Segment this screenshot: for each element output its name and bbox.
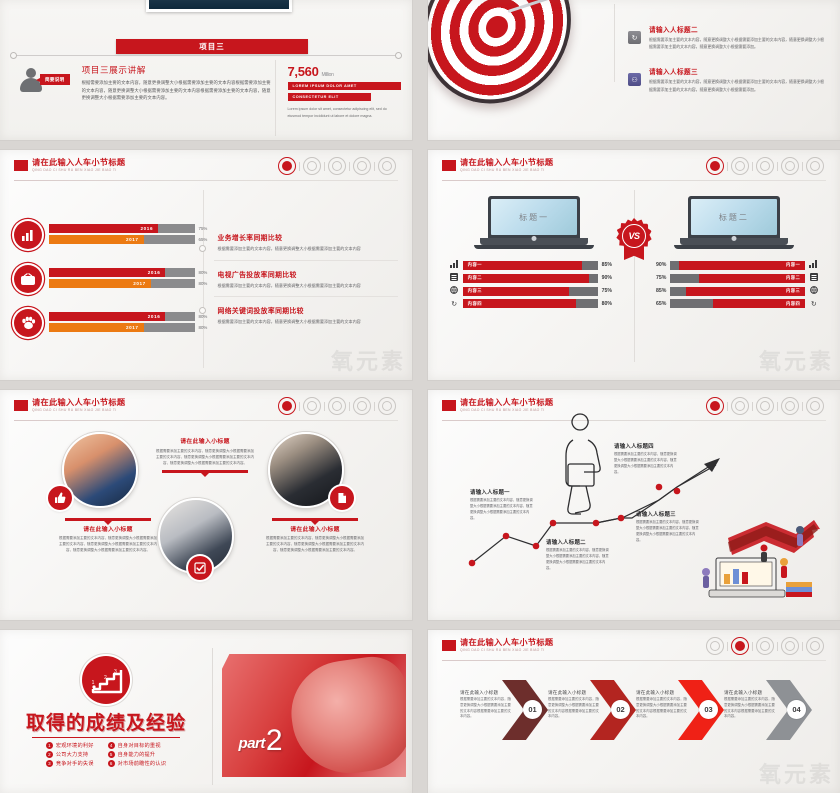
bar-chart-icon	[14, 221, 42, 249]
watermark: 氧元素	[759, 757, 834, 789]
photo-caption-2: 请在此输入小标题 根据需要添加主要的文本内容，随意更换调整大小根据需要添加主要的…	[58, 518, 158, 553]
list-item: 5自身能力的提升	[108, 751, 167, 758]
stairs-growth-icon: 1 2 3	[82, 656, 130, 704]
nav-icon-active[interactable]	[731, 637, 749, 655]
vs-bar-percent: 90%	[602, 275, 619, 281]
nav-icon-4[interactable]	[781, 157, 799, 175]
bar-2016: 2016 80%	[49, 312, 195, 321]
slide7-heading: 取得的成绩及经验	[26, 708, 186, 735]
vs-bar-row: ↻ 内容四 80%	[450, 299, 619, 308]
growth-label-body: 根据需要添加主要的文本内容，随意更换调整大小根据需要添加主要的文本内容，随意更换…	[636, 520, 700, 544]
photo-caption-3: 请在此输入小标题 根据需要添加主要的文本内容，随意更换调整大小根据需要添加主要的…	[265, 518, 365, 553]
metric-row: 2016 80% 2017 80%	[14, 265, 195, 293]
bar-2017: 2017 65%	[49, 235, 195, 244]
red-square-marker	[14, 400, 28, 411]
stat-tag-1: LOREM IPSUM DOLOR AMET	[288, 82, 401, 90]
bullet-text: 公司大力支持	[56, 751, 88, 758]
vs-bar-percent: 85%	[602, 262, 619, 268]
bar-year-label: 2017	[126, 325, 139, 330]
checklist-icon	[188, 556, 212, 580]
bullet-text: 自身能力的提升	[118, 751, 156, 758]
metric-description: 业务增长率同期比较 根据需要添加主要的文本内容，随意更换调整大小根据需要添加主要…	[218, 232, 399, 252]
vs-bar-label: 内容一	[468, 262, 482, 268]
slide-thumbnail-target-goals[interactable]: ↻ 请输入人标题二 根据需要添加主要的文本内容，随意更换调整大小根据需要添加主要…	[428, 0, 840, 140]
nav-icon-2[interactable]	[731, 157, 749, 175]
metric-title: 电视广告投放率同期比较	[218, 269, 399, 279]
nav-icon-4[interactable]	[781, 637, 799, 655]
growth-label-body: 根据需要添加主要的文本内容，随意更换调整大小根据需要添加主要的文本内容，随意更换…	[614, 452, 678, 476]
vs-bar-label: 内容一	[786, 262, 800, 268]
nav-icon-5[interactable]	[806, 637, 824, 655]
bullet-number: 2	[46, 751, 53, 758]
nav-icon-5[interactable]	[378, 157, 396, 175]
vs-bar-percent: 65%	[649, 301, 666, 307]
list-item: 4自身对目标的重视	[108, 742, 167, 749]
photo-caption-1: 请在此输入小标题 根据需要添加主要的文本内容，随意更换调整大小根据需要添加主要的…	[155, 436, 255, 473]
step-body: 根据需要添加主要的文本内容，随意更换调整大小根据需要添加主要的文本内容根据需要添…	[636, 697, 688, 720]
project-banner-label: 项目三	[199, 41, 225, 52]
caption-body: 根据需要添加主要的文本内容，随意更换调整大小根据需要添加主要的文本内容，随意更换…	[265, 535, 365, 553]
svg-text:1: 1	[92, 680, 95, 686]
slide-header: 请在此输入人车小节标题 QING DAO CI SHU RU BEN XIAO …	[442, 159, 826, 181]
list-item[interactable]: ⚇ 请输入人标题三 根据需要添加主要的文本内容，随意更换调整大小根据需要添加主要…	[628, 66, 826, 92]
vs-bar-label: 内容二	[786, 275, 800, 281]
step-title: 请在此输入小标题	[460, 690, 512, 696]
red-square-marker	[442, 160, 456, 171]
list-icon	[809, 273, 818, 283]
vs-bar-row: 内容一 85%	[450, 260, 619, 270]
list-item: 1宏观环境的利好	[46, 742, 94, 749]
slide-thumbnail-part-two-cover[interactable]: 1 2 3 取得的成绩及经验 1宏观环境的利好 4自身对目标的重视 2公司大力支…	[0, 630, 412, 793]
stat-value-block: 7,560 Million	[288, 64, 401, 79]
step-title: 请在此输入小标题	[548, 690, 600, 696]
process-step[interactable]: 请在此输入小标题 根据需要添加主要的文本内容，随意更换调整大小根据需要添加主要的…	[552, 674, 636, 746]
nav-icon-3[interactable]	[328, 397, 346, 415]
metric-body: 根据需要添加主要的文本内容，随意更换调整大小根据需要添加主要的文本内容	[218, 282, 399, 289]
bullet-number: 5	[108, 751, 115, 758]
step-number: 04	[787, 700, 806, 719]
slide1-heading: 项目三展示讲解	[82, 64, 275, 76]
stat-unit: Million	[322, 72, 334, 78]
list-item[interactable]: ↻ 请输入人标题二 根据需要添加主要的文本内容，随意更换调整大小根据需要添加主要…	[628, 24, 826, 50]
bar-percent: 80%	[199, 268, 208, 277]
clock-icon: ↻	[628, 31, 641, 44]
person-chart-icon: ⚇	[628, 73, 641, 86]
metric-description: 电视广告投放率同期比较 根据需要添加主要的文本内容，随意更换调整大小根据需要添加…	[218, 269, 399, 289]
nav-icon-active[interactable]	[706, 157, 724, 175]
nav-icon-5[interactable]	[806, 157, 824, 175]
vs-bar-row: 内容三 85%	[649, 286, 818, 296]
bar-percent: 80%	[199, 312, 208, 321]
paw-icon	[14, 309, 42, 337]
list-item-title: 请输入人标题二	[649, 24, 826, 34]
metric-row: 2016 75% 2017 65%	[14, 221, 195, 249]
part-word: part	[239, 735, 265, 752]
vs-right-panel: 标题二 内容一 90% 内容二 75%	[649, 196, 818, 311]
stat-tag-2: CONSECTETUR ELIT	[288, 93, 372, 101]
list-item: 6对市场前瞻性的认识	[108, 760, 167, 767]
red-square-marker	[14, 160, 28, 171]
slide-header: 请在此输入人车小节标题 QING DAO CI SHU RU BEN XIAO …	[442, 639, 826, 661]
bullet-text: 宏观环境的利好	[56, 742, 94, 749]
growth-label-title: 请输入人标题二	[546, 538, 610, 546]
slide-thumbnail-vs-comparison[interactable]: 请在此输入人车小节标题 QING DAO CI SHU RU BEN XIAO …	[428, 150, 840, 380]
bar-year-label: 2017	[133, 281, 146, 286]
svg-text:3: 3	[114, 669, 117, 675]
section-title: 请在此输入人车小节标题	[32, 399, 125, 407]
slide-header: 请在此输入人车小节标题 QING DAO CI SHU RU BEN XIAO …	[14, 159, 398, 181]
growth-label-2: 请输入人标题二 根据需要添加主要的文本内容，随意更换调整大小根据需要添加主要的文…	[546, 538, 610, 572]
nav-icon-group[interactable]	[704, 157, 826, 175]
stat-value: 7,560	[288, 64, 319, 79]
stat-tag-2-label: CONSECTETUR ELIT	[293, 95, 339, 99]
caption-title: 请在此输入小标题	[155, 436, 255, 445]
nav-icon-group[interactable]	[276, 397, 398, 415]
caption-title: 请在此输入小标题	[265, 524, 365, 533]
section-title-pinyin: QING DAO CI SHU RU BEN XIAO JIE BIAO TI	[32, 409, 125, 412]
bar-2017: 2017 80%	[49, 323, 195, 332]
vs-bar-row: ↻ 内容四 65%	[649, 299, 818, 308]
list-item: 3竞争对手的失误	[46, 760, 94, 767]
vertical-divider	[634, 190, 635, 362]
vs-bar-percent: 85%	[649, 288, 666, 294]
vertical-divider	[614, 4, 615, 82]
metric-description: 网络关键词投放率同期比较 根据需要添加主要的文本内容，随意更换调整大小根据需要添…	[218, 305, 399, 325]
bullet-text: 对市场前瞻性的认识	[118, 760, 167, 767]
vs-bar-row: 内容二 90%	[450, 273, 619, 283]
step-title: 请在此输入小标题	[724, 690, 776, 696]
bullet-number: 1	[46, 742, 53, 749]
vs-bar-label: 内容二	[468, 275, 482, 281]
hand-photo	[285, 654, 406, 777]
nav-icon-1[interactable]	[706, 637, 724, 655]
process-step[interactable]: 请在此输入小标题 根据需要添加主要的文本内容，随意更换调整大小根据需要添加主要的…	[640, 674, 724, 746]
metric-title: 业务增长率同期比较	[218, 232, 399, 242]
metric-row: 2016 80% 2017 80%	[14, 309, 195, 337]
svg-text:2: 2	[104, 675, 107, 681]
project-banner: 项目三	[116, 39, 308, 54]
nav-icon-4[interactable]	[353, 397, 371, 415]
bar-2016: 2016 80%	[49, 268, 195, 277]
slide-thumbnail-project-three[interactable]: 项目三 简要说明 项目三展示讲解 根据需要添加主要的文本内容，随意更换调整大小根…	[0, 0, 412, 140]
globe-icon	[450, 286, 459, 296]
growth-label-body: 根据需要添加主要的文本内容，随意更换调整大小根据需要添加主要的文本内容，随意更换…	[470, 498, 534, 522]
vs-left-panel: 标题一 内容一 85% 内容二 90%	[450, 196, 619, 311]
caption-title: 请在此输入小标题	[58, 524, 158, 533]
bar-percent: 80%	[199, 279, 208, 288]
nav-icon-2[interactable]	[303, 397, 321, 415]
slide-thumbnail-growth-comparison[interactable]: 请在此输入人车小节标题 QING DAO CI SHU RU BEN XIAO …	[0, 150, 412, 380]
nav-icon-active[interactable]	[278, 397, 296, 415]
section-title: 请在此输入人车小节标题	[32, 159, 125, 167]
thumbs-up-icon	[48, 486, 72, 510]
vs-bar-label: 内容三	[786, 288, 800, 294]
list-item-body: 根据需要添加主要的文本内容，随意更换调整大小根据需要添加主要的文本内容，随意更换…	[649, 78, 826, 92]
section-title-pinyin: QING DAO CI SHU RU BEN XIAO JIE BIAO TI	[32, 169, 125, 172]
step-body: 根据需要添加主要的文本内容，随意更换调整大小根据需要添加主要的文本内容根据需要添…	[460, 697, 512, 720]
refresh-icon: ↻	[450, 300, 459, 308]
vertical-divider	[212, 648, 213, 785]
caption-body: 根据需要添加主要的文本内容，随意更换调整大小根据需要添加主要的文本内容，随意更换…	[58, 535, 158, 553]
dartboard-illustration	[428, 0, 572, 102]
metric-body: 根据需要添加主要的文本内容，随意更换调整大小根据需要添加主要的文本内容	[218, 245, 399, 252]
vs-badge-label: VS	[628, 231, 639, 241]
vs-bar-label: 内容四	[468, 301, 482, 307]
vs-bar-percent: 80%	[602, 301, 619, 307]
vs-bar-label: 内容三	[468, 288, 482, 294]
growth-label-title: 请输入人标题三	[636, 510, 700, 518]
step-body: 根据需要添加主要的文本内容，随意更换调整大小根据需要添加主要的文本内容根据需要添…	[724, 697, 776, 720]
list-item: 2公司大力支持	[46, 751, 94, 758]
growth-label-3: 请输入人标题三 根据需要添加主要的文本内容，随意更换调整大小根据需要添加主要的文…	[636, 510, 700, 544]
nav-icon-2[interactable]	[303, 157, 321, 175]
vs-bar-row: 内容二 75%	[649, 273, 818, 283]
section-title-pinyin: QING DAO CI SHU RU BEN XIAO JIE BIAO TI	[460, 169, 553, 172]
bar-year-label: 2016	[148, 314, 161, 319]
nav-icon-3[interactable]	[328, 157, 346, 175]
bar-2017: 2017 80%	[49, 279, 195, 288]
tv-icon	[14, 265, 42, 293]
signal-icon	[809, 260, 818, 270]
screen-title: 标题一	[519, 212, 549, 223]
growth-label-4: 请输入人标题四 根据需要添加主要的文本内容，随意更换调整大小根据需要添加主要的文…	[614, 442, 678, 476]
caption-body: 根据需要添加主要的文本内容，随意更换调整大小根据需要添加主要的文本内容，随意更换…	[155, 448, 255, 466]
slide-thumbnail-growth-path[interactable]: 请在此输入人车小节标题 QING DAO CI SHU RU BEN XIAO …	[428, 390, 840, 620]
nav-icon-3[interactable]	[756, 637, 774, 655]
section-title: 请在此输入人车小节标题	[460, 639, 553, 647]
bar-year-label: 2016	[148, 270, 161, 275]
bullet-number: 3	[46, 760, 53, 767]
list-item-body: 根据需要添加主要的文本内容，随意更换调整大小根据需要添加主要的文本内容，随意更换…	[649, 36, 826, 50]
vs-bar-percent: 90%	[649, 262, 666, 268]
project-photo-2	[146, 0, 292, 12]
circle-photo-1	[62, 432, 138, 508]
vs-bar-percent: 75%	[602, 288, 619, 294]
slide-header: 请在此输入人车小节标题 QING DAO CI SHU RU BEN XIAO …	[14, 399, 398, 421]
bar-year-label: 2017	[126, 237, 139, 242]
document-icon	[330, 486, 354, 510]
globe-icon	[809, 286, 818, 296]
signal-icon	[450, 260, 459, 270]
bullet-text: 自身对目标的重视	[118, 742, 161, 749]
bullet-text: 竞争对手的失误	[56, 760, 94, 767]
nav-icon-4[interactable]	[353, 157, 371, 175]
process-step[interactable]: 请在此输入小标题 根据需要添加主要的文本内容，随意更换调整大小根据需要添加主要的…	[464, 674, 548, 746]
bullet-number: 4	[108, 742, 115, 749]
part-cover-card: part 2	[222, 654, 406, 777]
laptop-illustration: 标题二	[680, 196, 788, 254]
section-title-pinyin: QING DAO CI SHU RU BEN XIAO JIE BIAO TI	[460, 649, 553, 652]
nav-icon-5[interactable]	[378, 397, 396, 415]
divider-line	[12, 55, 400, 56]
growth-label-1: 请输入人标题一 根据需要添加主要的文本内容，随意更换调整大小根据需要添加主要的文…	[470, 488, 534, 522]
bar-percent: 75%	[199, 224, 208, 233]
callout-badge: 简要说明	[40, 74, 70, 85]
bar-2016: 2016 75%	[49, 224, 195, 233]
step-number: 03	[699, 700, 718, 719]
vs-bar-label: 内容四	[786, 301, 800, 307]
nav-icon-3[interactable]	[756, 157, 774, 175]
stat-tag-1-label: LOREM IPSUM DOLOR AMET	[293, 84, 357, 88]
bar-percent: 80%	[199, 323, 208, 332]
metric-title: 网络关键词投放率同期比较	[218, 305, 399, 315]
step-number: 01	[523, 700, 542, 719]
red-square-marker	[442, 640, 456, 651]
step-title: 请在此输入小标题	[636, 690, 688, 696]
slide-thumbnail-process-chevrons[interactable]: 请在此输入人车小节标题 QING DAO CI SHU RU BEN XIAO …	[428, 630, 840, 793]
nav-icon-group[interactable]	[276, 157, 398, 175]
bullet-number: 6	[108, 760, 115, 767]
bar-percent: 65%	[199, 235, 208, 244]
vs-bar-row: 内容三 75%	[450, 286, 619, 296]
screen-title: 标题二	[719, 212, 749, 223]
bullet-list: 1宏观环境的利好 4自身对目标的重视 2公司大力支持 5自身能力的提升 3竞争对…	[46, 742, 166, 767]
slide-thumbnail-team-photos[interactable]: 请在此输入人车小节标题 QING DAO CI SHU RU BEN XIAO …	[0, 390, 412, 620]
slide1-body: 根据需要添加主要的文本内容，随意更换调整大小根据需要添加主要的文本内容根据需要添…	[82, 79, 275, 102]
growth-label-title: 请输入人标题四	[614, 442, 678, 450]
growth-label-body: 根据需要添加主要的文本内容，随意更换调整大小根据需要添加主要的文本内容，随意更换…	[546, 548, 610, 572]
refresh-icon: ↻	[809, 300, 818, 308]
vs-badge: VS	[616, 218, 652, 254]
list-icon	[450, 273, 459, 283]
growth-label-title: 请输入人标题一	[470, 488, 534, 496]
step-body: 根据需要添加主要的文本内容，随意更换调整大小根据需要添加主要的文本内容根据需要添…	[548, 697, 600, 720]
list-item-title: 请输入人标题三	[649, 66, 826, 76]
vs-bar-row: 内容一 90%	[649, 260, 818, 270]
part-number: 2	[266, 729, 283, 752]
bar-year-label: 2016	[141, 226, 154, 231]
step-number: 02	[611, 700, 630, 719]
stat-body: Lorem ipsum dolor sit amet, consectetur …	[288, 106, 401, 119]
process-step[interactable]: 请在此输入小标题 根据需要添加主要的文本内容，随意更换调整大小根据需要添加主要的…	[728, 674, 812, 746]
project-photo-strip	[0, 0, 412, 18]
metric-body: 根据需要添加主要的文本内容，随意更换调整大小根据需要添加主要的文本内容	[218, 318, 399, 325]
nav-icon-active[interactable]	[278, 157, 296, 175]
section-title: 请在此输入人车小节标题	[460, 159, 553, 167]
laptop-illustration: 标题一	[480, 196, 588, 254]
vs-bar-percent: 75%	[649, 275, 666, 281]
nav-icon-group[interactable]	[704, 637, 826, 655]
callout-label: 简要说明	[45, 77, 65, 83]
slide-thumbnail-grid: 项目三 简要说明 项目三展示讲解 根据需要添加主要的文本内容，随意更换调整大小根…	[0, 0, 840, 788]
